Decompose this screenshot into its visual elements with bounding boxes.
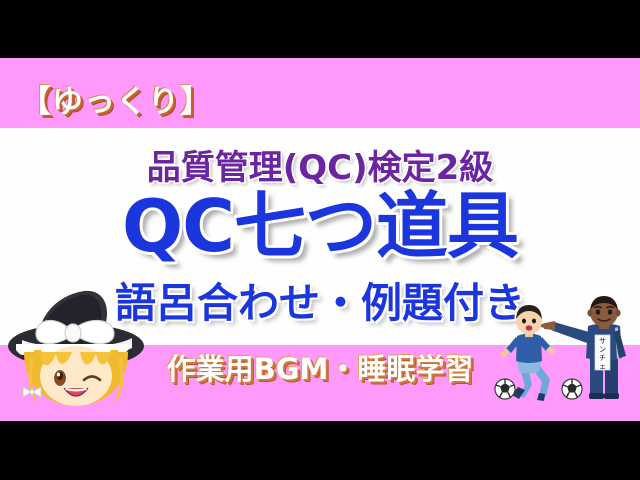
yukkuri-marisa-illustration bbox=[6, 288, 146, 406]
svg-text:サ: サ bbox=[599, 337, 606, 345]
soccer-svg: サ ン チ ェ bbox=[492, 292, 640, 402]
marisa-svg bbox=[6, 288, 146, 406]
soccer-scene-illustration: サ ン チ ェ bbox=[492, 292, 640, 402]
subtitle-top-line: 品質管理(QC)検定2級 bbox=[0, 140, 640, 189]
svg-text:チ: チ bbox=[599, 354, 606, 362]
soccer-ball-left bbox=[495, 379, 515, 399]
youtube-thumbnail: 【ゆっくり】 品質管理(QC)検定2級 QC七つ道具 語呂合わせ・例題付き 作業… bbox=[0, 0, 640, 480]
letterbox-bar-top bbox=[0, 0, 640, 58]
letterbox-bar-bottom bbox=[0, 421, 640, 480]
soccer-ball-right bbox=[562, 379, 582, 399]
main-title: QC七つ道具 bbox=[0, 190, 640, 262]
format-tag-label: 【ゆっくり】 bbox=[20, 76, 212, 121]
svg-text:ン: ン bbox=[599, 346, 606, 354]
svg-text:ェ: ェ bbox=[599, 363, 606, 371]
